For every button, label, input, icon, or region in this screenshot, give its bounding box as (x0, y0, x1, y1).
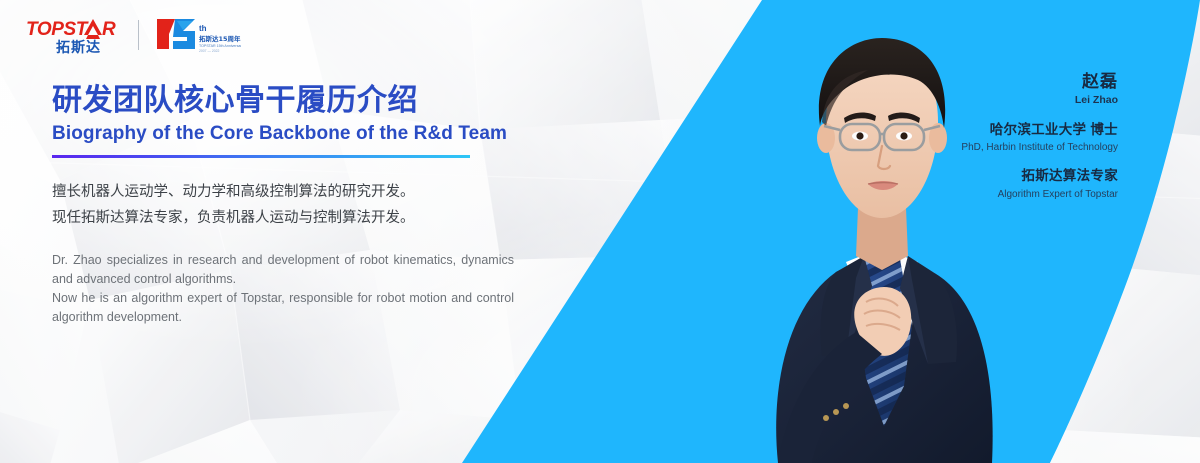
left-content: 研发团队核心骨干履历介绍 Biography of the Core Backb… (52, 84, 572, 327)
svg-text:拓斯达15周年: 拓斯达15周年 (199, 34, 241, 43)
svg-text:TOPSTAR 15th Anniversary: TOPSTAR 15th Anniversary (199, 44, 241, 48)
logo-row: TOPST R 拓斯达 th 拓斯达15周年 TOPSTAR 15th Anni… (26, 14, 241, 56)
svg-text:th: th (199, 24, 207, 33)
profile-degree-cn: 哈尔滨工业大学 博士 (961, 121, 1118, 139)
svg-text:拓斯达: 拓斯达 (56, 39, 101, 55)
profile-role-en: Algorithm Expert of Topstar (961, 187, 1118, 202)
body-en-paragraph-2: Now he is an algorithm expert of Topstar… (52, 289, 514, 327)
headline-underline (52, 155, 470, 158)
body-cn-line-2: 现任拓斯达算法专家，负责机器人运动与控制算法开发。 (52, 205, 572, 231)
headline-cn: 研发团队核心骨干履历介绍 (52, 84, 572, 118)
banner-root: TOPST R 拓斯达 th 拓斯达15周年 TOPSTAR 15th Anni… (0, 0, 1200, 463)
svg-text:2007 — 2022: 2007 — 2022 (199, 49, 219, 53)
profile-name-block: 赵磊 Lei Zhao 哈尔滨工业大学 博士 PhD, Harbin Insti… (961, 72, 1118, 202)
body-en: Dr. Zhao specializes in research and dev… (52, 251, 514, 327)
svg-text:TOPST: TOPST (26, 19, 89, 40)
profile-name-cn: 赵磊 (961, 72, 1118, 92)
headline-en: Biography of the Core Backbone of the R&… (52, 122, 572, 147)
profile-degree-en: PhD, Harbin Institute of Technology (961, 140, 1118, 155)
logo-divider (138, 20, 139, 50)
anniversary-logo[interactable]: th 拓斯达15周年 TOPSTAR 15th Anniversary 2007… (153, 15, 241, 55)
body-cn-line-1: 擅长机器人运动学、动力学和高级控制算法的研究开发。 (52, 179, 572, 205)
svg-text:R: R (102, 19, 116, 40)
topstar-logo[interactable]: TOPST R 拓斯达 (26, 15, 122, 55)
body-en-paragraph-1: Dr. Zhao specializes in research and dev… (52, 251, 514, 289)
profile-role-cn: 拓斯达算法专家 (961, 167, 1118, 185)
body-cn: 擅长机器人运动学、动力学和高级控制算法的研究开发。 现任拓斯达算法专家，负责机器… (52, 179, 572, 231)
profile-name-en: Lei Zhao (961, 93, 1118, 109)
